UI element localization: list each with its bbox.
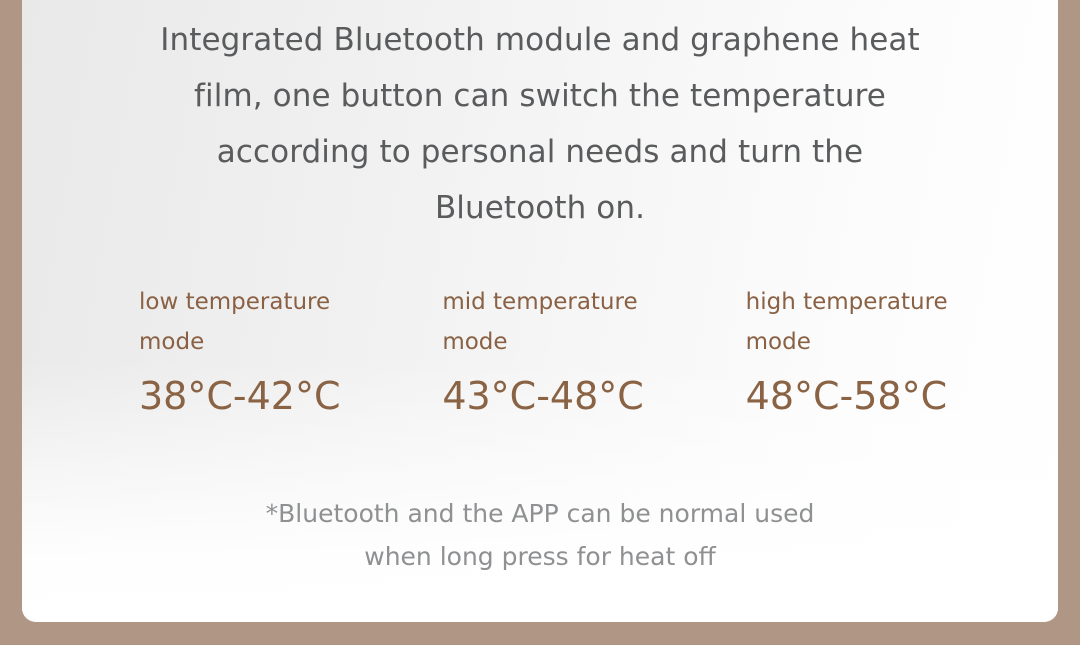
headline-line-2: film, one button can switch the temperat… <box>106 68 974 124</box>
mode-range-low: 38°C-42°C <box>139 368 420 424</box>
mode-column-low: low temperature mode 38°C-42°C <box>117 282 420 424</box>
headline-paragraph: Integrated Bluetooth module and graphene… <box>22 12 1058 236</box>
mode-label-mid: mid temperature mode <box>442 282 697 362</box>
footnote-text: *Bluetooth and the APP can be normal use… <box>22 492 1058 578</box>
mode-label-low: low temperature mode <box>139 282 394 362</box>
footnote-line-1: *Bluetooth and the APP can be normal use… <box>102 492 978 535</box>
temperature-modes: low temperature mode 38°C-42°C mid tempe… <box>117 282 1027 424</box>
card-content: Integrated Bluetooth module and graphene… <box>22 0 1058 622</box>
product-info-card: Integrated Bluetooth module and graphene… <box>22 0 1058 622</box>
mode-label-high: high temperature mode <box>746 282 1001 362</box>
headline-line-4: Bluetooth on. <box>106 180 974 236</box>
headline-line-1: Integrated Bluetooth module and graphene… <box>106 12 974 68</box>
footnote-line-2: when long press for heat off <box>102 535 978 578</box>
headline-line-3: according to personal needs and turn the <box>106 124 974 180</box>
mode-column-mid: mid temperature mode 43°C-48°C <box>420 282 723 424</box>
mode-column-high: high temperature mode 48°C-58°C <box>724 282 1027 424</box>
product-detail-page: Integrated Bluetooth module and graphene… <box>0 0 1080 645</box>
mode-range-high: 48°C-58°C <box>746 368 1027 424</box>
mode-range-mid: 43°C-48°C <box>442 368 723 424</box>
